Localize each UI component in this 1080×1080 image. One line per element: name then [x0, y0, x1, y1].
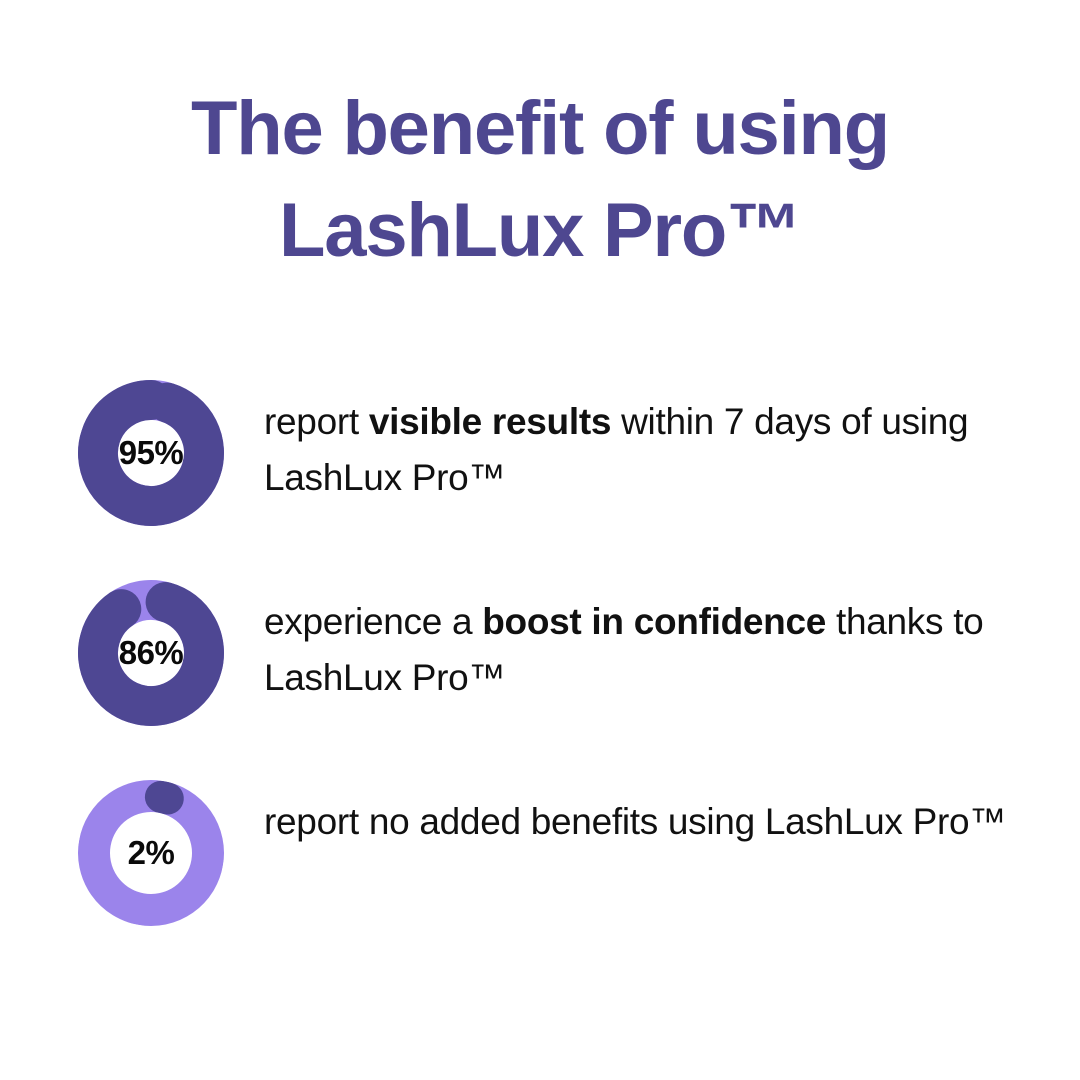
infographic-poster: The benefit of using LashLux Pro™ 95%rep…: [0, 0, 1080, 1080]
stat-row: 2%report no added benefits using LashLux…: [0, 772, 1080, 972]
donut-chart-no-added-benefits: 2%: [78, 780, 224, 926]
stat-row: 86%experience a boost in confidence than…: [0, 572, 1080, 772]
donut-svg: [61, 563, 242, 744]
donut-svg: [59, 361, 243, 545]
stat-text-highlight: boost in confidence: [482, 601, 826, 642]
stat-text-pre: report: [264, 401, 369, 442]
stat-description: experience a boost in confidence thanks …: [264, 594, 1080, 706]
page-title: The benefit of using LashLux Pro™: [0, 78, 1080, 282]
stats-list: 95%report visible results within 7 days …: [0, 372, 1080, 972]
donut-chart-visible-results: 95%: [78, 380, 224, 526]
donut-value-arc: [84, 386, 218, 520]
stat-text-highlight: visible results: [369, 401, 611, 442]
stat-description: report visible results within 7 days of …: [264, 394, 1080, 506]
stat-text-pre: experience a: [264, 601, 482, 642]
donut-value-arc: [85, 587, 216, 718]
donut-chart-boost-in-confidence: 86%: [78, 580, 224, 726]
stat-description: report no added benefits using LashLux P…: [264, 794, 1080, 850]
stat-text-pre: report no added benefits using LashLux P…: [264, 801, 1006, 842]
donut-svg: [66, 768, 235, 937]
stat-row: 95%report visible results within 7 days …: [0, 372, 1080, 572]
title-line-2: LashLux Pro™: [0, 180, 1080, 282]
title-line-1: The benefit of using: [0, 78, 1080, 180]
